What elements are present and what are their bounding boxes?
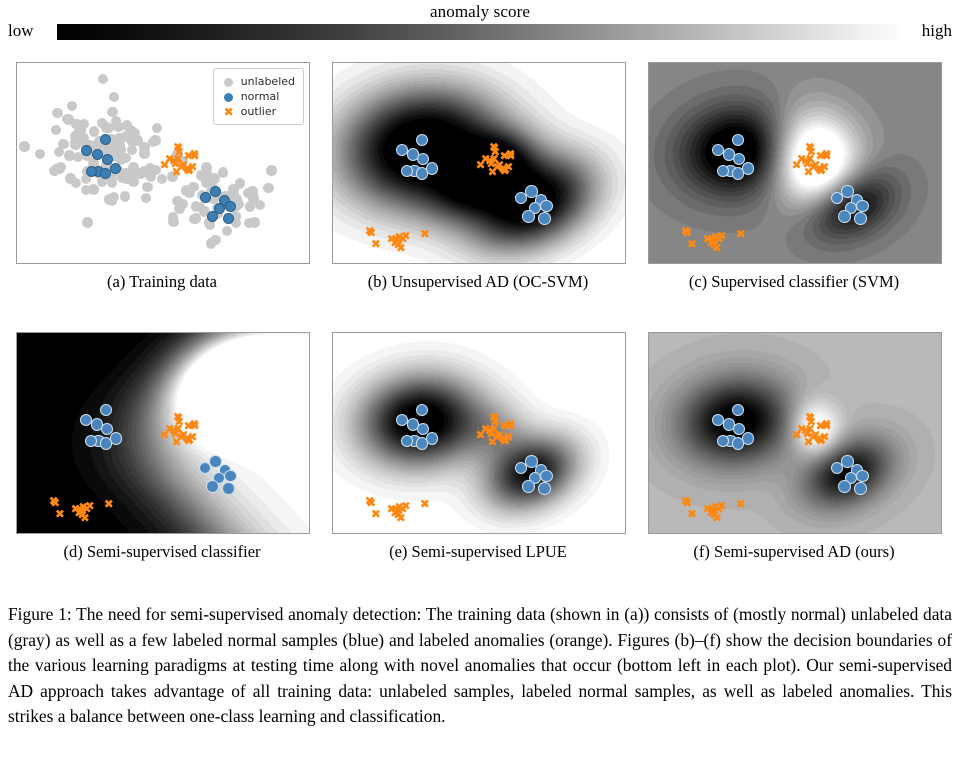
unlabeled-point: [113, 122, 124, 133]
unlabeled-point: [191, 213, 202, 224]
novel-anomaly-marker: ✖: [709, 509, 719, 521]
unlabeled-point: [150, 135, 161, 146]
panel-a-caption: (a) Training data: [16, 272, 308, 292]
legend-item-outlier: ✖ outlier: [220, 104, 295, 119]
novel-anomaly-marker: ✖: [393, 509, 403, 521]
novel-anomaly-marker: ✖: [371, 508, 381, 520]
colorbar-low-label: low: [8, 21, 34, 41]
unlabeled-point: [71, 178, 82, 189]
normal-point: [86, 166, 97, 177]
normal-point: [102, 154, 113, 165]
normal-point: [522, 210, 535, 223]
colorbar-block: anomaly score low high: [0, 0, 960, 52]
outlier-marker: ✖: [815, 150, 825, 162]
normal-point: [416, 404, 429, 417]
outlier-marker: ✖: [499, 420, 509, 432]
normal-point: [223, 213, 234, 224]
outlier-marker: ✖: [486, 428, 496, 440]
outlier-marker: ✖: [802, 428, 812, 440]
outlier-marker: ✖: [183, 420, 193, 432]
legend-label-normal: normal: [238, 90, 280, 103]
legend-box: unlabeled normal ✖ outlier: [213, 68, 304, 125]
normal-point: [854, 212, 867, 225]
blue-dot-icon: [220, 90, 238, 103]
novel-anomaly-marker: ✖: [104, 498, 114, 510]
outlier-marker: ✖: [160, 429, 170, 441]
outlier-marker: ✖: [792, 429, 802, 441]
normal-point: [838, 210, 851, 223]
outlier-marker: ✖: [476, 159, 486, 171]
outlier-marker: ✖: [815, 420, 825, 432]
unlabeled-point: [142, 182, 153, 193]
legend-item-unlabeled: unlabeled: [220, 74, 295, 89]
outlier-marker: ✖: [183, 150, 193, 162]
outlier-marker: ✖: [160, 159, 170, 171]
unlabeled-point: [19, 141, 30, 152]
panel-f-caption: (f) Semi-supervised AD (ours): [648, 542, 940, 562]
normal-point: [732, 134, 745, 147]
unlabeled-point: [88, 184, 99, 195]
normal-point: [100, 404, 113, 417]
normal-point: [838, 480, 851, 493]
panel-a-training-data: ✖✖✖✖✖✖✖✖✖✖✖✖✖✖✖✖✖✖ unlabeled normal ✖ ou…: [16, 62, 310, 264]
figure-caption: Figure 1: The need for semi-supervised a…: [8, 602, 952, 730]
normal-point: [732, 404, 745, 417]
unlabeled-point: [249, 217, 260, 228]
panel-c-supervised-classifier: ✖✖✖✖✖✖✖✖✖✖✖✖✖✖✖✖✖✖✖✖✖✖✖✖✖✖✖✖✖✖✖✖: [648, 62, 942, 264]
novel-anomaly-marker: ✖: [55, 508, 65, 520]
unlabeled-point: [263, 183, 274, 194]
novel-anomaly-marker: ✖: [393, 239, 403, 251]
outlier-marker: ✖: [814, 433, 824, 445]
novel-anomaly-marker: ✖: [420, 228, 430, 240]
novel-anomaly-marker: ✖: [77, 509, 87, 521]
unlabeled-point: [243, 188, 254, 199]
colorbar-gradient: [57, 24, 900, 40]
normal-point: [225, 201, 236, 212]
normal-point: [416, 437, 429, 450]
outlier-marker: ✖: [814, 163, 824, 175]
outlier-marker: ✖: [792, 159, 802, 171]
panel-d-caption: (d) Semi-supervised classifier: [16, 542, 308, 562]
legend-label-unlabeled: unlabeled: [238, 75, 295, 88]
outlier-marker: ✖: [802, 158, 812, 170]
outlier-marker: ✖: [498, 163, 508, 175]
outlier-marker: ✖: [174, 142, 184, 154]
unlabeled-point: [107, 107, 118, 118]
normal-point: [854, 482, 867, 495]
novel-anomaly-marker: ✖: [736, 228, 746, 240]
panel-c-caption: (c) Supervised classifier (SVM): [648, 272, 940, 292]
unlabeled-point: [172, 196, 183, 207]
outlier-marker: ✖: [490, 142, 500, 154]
normal-point: [732, 437, 745, 450]
unlabeled-point: [54, 163, 65, 174]
legend-label-outlier: outlier: [238, 105, 276, 118]
panel-b-unsupervised-ad: ✖✖✖✖✖✖✖✖✖✖✖✖✖✖✖✖✖✖✖✖✖✖✖✖✖✖✖✖✖✖✖✖: [332, 62, 626, 264]
unlabeled-point: [266, 165, 277, 176]
gray-dot-icon: [220, 75, 238, 88]
unlabeled-point: [104, 194, 115, 205]
outlier-marker: ✖: [182, 433, 192, 445]
legend-item-normal: normal: [220, 89, 295, 104]
colorbar-title: anomaly score: [0, 2, 960, 22]
panel-e-caption: (e) Semi-supervised LPUE: [332, 542, 624, 562]
novel-anomaly-marker: ✖: [687, 238, 697, 250]
outlier-marker: ✖: [806, 142, 816, 154]
novel-anomaly-marker: ✖: [687, 508, 697, 520]
unlabeled-point: [64, 150, 75, 161]
unlabeled-point: [235, 178, 246, 189]
outlier-marker: ✖: [170, 158, 180, 170]
outlier-marker: ✖: [499, 150, 509, 162]
outlier-marker: ✖: [174, 412, 184, 424]
unlabeled-point: [63, 114, 74, 125]
unlabeled-point: [168, 212, 179, 223]
outlier-marker: ✖: [486, 158, 496, 170]
unlabeled-point: [139, 142, 150, 153]
orange-x-icon: ✖: [220, 105, 238, 119]
outlier-marker: ✖: [182, 163, 192, 175]
novel-anomaly-marker: ✖: [371, 238, 381, 250]
unlabeled-point: [218, 167, 229, 178]
outlier-marker: ✖: [490, 412, 500, 424]
outlier-marker: ✖: [806, 412, 816, 424]
normal-point: [100, 437, 113, 450]
novel-anomaly-marker: ✖: [420, 498, 430, 510]
normal-point: [416, 134, 429, 147]
panel-b-caption: (b) Unsupervised AD (OC-SVM): [332, 272, 624, 292]
unlabeled-point: [82, 217, 93, 228]
panel-e-semi-supervised-lpue: ✖✖✖✖✖✖✖✖✖✖✖✖✖✖✖✖✖✖✖✖✖✖✖✖✖✖✖✖✖✖✖✖: [332, 332, 626, 534]
colorbar-high-label: high: [922, 21, 952, 41]
unlabeled-point: [157, 174, 168, 185]
panel-d-semi-supervised-classifier: ✖✖✖✖✖✖✖✖✖✖✖✖✖✖✖✖✖✖✖✖✖✖✖✖✖✖✖✖✖✖✖✖: [16, 332, 310, 534]
normal-point: [81, 145, 92, 156]
normal-point: [200, 192, 211, 203]
normal-point: [538, 212, 551, 225]
outlier-marker: ✖: [498, 433, 508, 445]
normal-point: [538, 482, 551, 495]
unlabeled-point: [188, 182, 199, 193]
outlier-marker: ✖: [476, 429, 486, 441]
novel-anomaly-marker: ✖: [736, 498, 746, 510]
unlabeled-point: [89, 126, 100, 137]
unlabeled-point: [210, 235, 221, 246]
normal-point: [732, 167, 745, 180]
normal-point: [416, 167, 429, 180]
outlier-marker: ✖: [170, 428, 180, 440]
unlabeled-point: [245, 201, 256, 212]
normal-point: [206, 480, 219, 493]
novel-anomaly-marker: ✖: [709, 239, 719, 251]
normal-point: [522, 480, 535, 493]
unlabeled-point: [146, 171, 157, 182]
unlabeled-point: [120, 191, 131, 202]
normal-point: [222, 482, 235, 495]
panel-f-semi-supervised-ad: ✖✖✖✖✖✖✖✖✖✖✖✖✖✖✖✖✖✖✖✖✖✖✖✖✖✖✖✖✖✖✖✖: [648, 332, 942, 534]
